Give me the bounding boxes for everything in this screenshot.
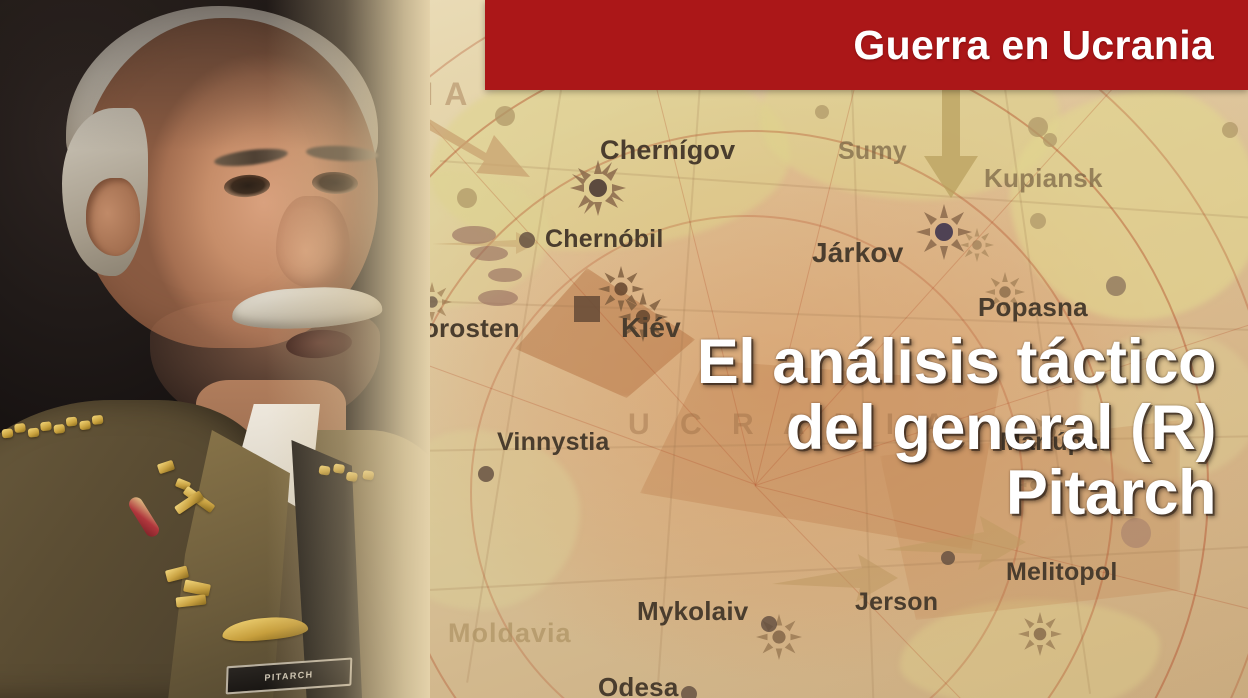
advance-arrow-icon [920,90,982,200]
city-dot [815,105,829,119]
city-dot-chernobil [519,232,535,248]
city-label-jarkov: Járkov [812,237,904,269]
headline-line-3: Pitarch [300,461,1232,527]
city-dot [1030,213,1046,229]
city-label-odesa: Odesa [598,672,679,698]
city-dot [1043,133,1057,147]
explosion-icon [1018,612,1062,656]
city-label-mykolaiv: Mykolaiv [637,596,748,627]
troop-marker [478,290,518,306]
country-label-moldavia: Moldavia [448,618,572,649]
city-dot [495,106,515,126]
section-banner: Guerra en Ucrania [485,0,1248,90]
city-label-chernobil: Chernóbil [545,225,663,254]
capital-marker-kiev [574,296,600,322]
city-dot [1106,276,1126,296]
city-label-sumy: Sumy [838,137,907,166]
section-banner-label: Guerra en Ucrania [853,25,1248,66]
city-label-kupiansk: Kupiansk [984,163,1103,194]
city-dot-odesa [681,686,697,698]
city-label-melitopol: Melitopol [1006,558,1118,587]
city-dot-mykolaiv [761,616,777,632]
explosion-icon [960,228,994,262]
city-label-chernigov: Chernígov [600,135,735,166]
troop-marker [488,268,522,282]
news-graphic: SIA U C R A N I A Moldavia Chernígov Sum… [0,0,1248,698]
city-dot [457,188,477,208]
headline-line-1: El análisis táctico [300,330,1232,396]
city-label-jerson: Jerson [855,588,938,617]
city-label-popasna: Popasna [978,292,1088,323]
headline-line-2: del general (R) [300,396,1232,462]
headline: El análisis táctico del general (R) Pita… [300,330,1232,527]
explosion-icon [570,160,626,216]
troop-marker [452,226,496,244]
troop-marker [470,246,508,261]
city-dot [1222,122,1238,138]
city-dot [941,551,955,565]
